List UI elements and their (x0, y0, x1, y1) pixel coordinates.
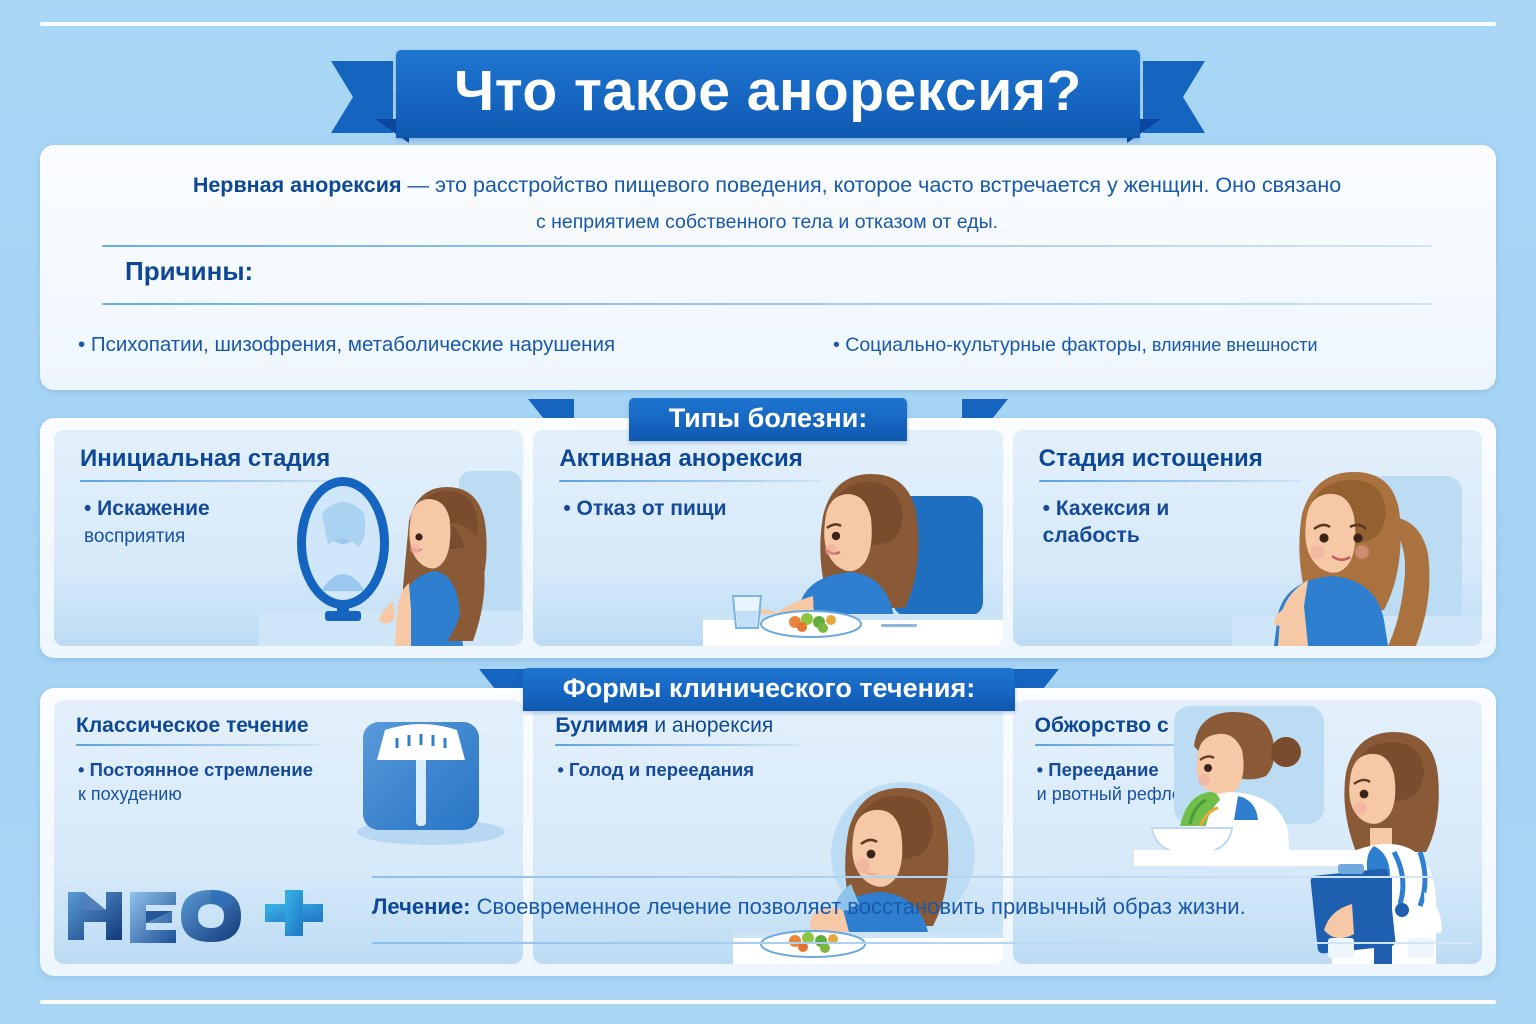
type-card-bullet-thin: восприятия (84, 526, 185, 547)
type-card-bullet-strong: • Кахексия и слабость (1043, 497, 1170, 547)
card-title-underline (555, 744, 799, 746)
type-card-bullet-strong: • Отказ от пищи (563, 497, 726, 520)
footer: Лечение: Своевременное лечение позволяет… (62, 880, 1474, 956)
card-title-underline (1039, 480, 1302, 482)
intro-lead: Нервная анорексия (193, 173, 402, 197)
cause-item-2-thin: влияние внешности (1147, 335, 1318, 355)
type-card-bullet: • Отказ от пищи (563, 496, 786, 523)
woman-mirror-icon (259, 461, 523, 646)
treatment-label: Лечение: (372, 894, 471, 919)
types-card-row: Инициальная стадия • Искажение восприяти… (54, 430, 1482, 646)
neo-plus-logo (62, 884, 352, 946)
card-title-underline (76, 744, 320, 746)
form-card-bullet-thin: к похудению (78, 784, 182, 804)
form-card-title: Булимия и анорексия (555, 714, 990, 737)
intro-body: — это расстройство пищевого поведения, к… (402, 173, 1342, 197)
type-card-title: Инициальная стадия (80, 446, 511, 472)
card-title-underline (559, 480, 822, 482)
form-card-title-thin: и анорексия (649, 714, 774, 737)
form-card-title: Классическое течение (76, 714, 511, 737)
card-title-underline (80, 480, 343, 482)
cause-item-2: • Социально-культурные факторы, влияние … (833, 334, 1318, 357)
types-banner-label: Типы болезни: (629, 398, 908, 441)
form-card-bullet: • Голод и переедания (557, 758, 815, 782)
type-card-active-anorexia[interactable]: Активная анорексия • Отказ от пищи (533, 430, 1002, 646)
form-card-title: Обжорство с рвотой (1035, 714, 1470, 737)
footer-divider-bottom (372, 942, 1472, 944)
woman-refusing-food-icon (703, 456, 1003, 646)
intro-paragraph: Нервная анорексия — это расстройство пищ… (102, 167, 1432, 239)
form-card-bullet-thin: и рвотный рефлекс (1037, 784, 1199, 804)
type-card-bullet: • Искажение восприятия (84, 496, 307, 550)
infographic-page: Что такое анорексия? Нервная анорексия —… (0, 0, 1536, 1024)
cause-item-1: • Психопатии, шизофрения, метаболические… (78, 333, 615, 357)
treatment-text: Лечение: Своевременное лечение позволяет… (372, 894, 1246, 920)
intro-line2: с неприятием собственного тела и отказом… (536, 211, 998, 233)
intro-divider-2 (102, 303, 1432, 305)
forms-banner-label: Формы клинического течения: (523, 668, 1016, 711)
form-card-title-strong: Классическое течение (76, 714, 309, 737)
title-ribbon: Что такое анорексия? (383, 45, 1153, 143)
form-card-bullet-strong: • Голод и переедания (557, 759, 754, 780)
form-card-bullet-strong: • Переедание (1037, 759, 1159, 780)
cause-item-2-strong: • Социально-культурные факторы, (833, 334, 1147, 356)
type-card-bullet: • Кахексия и слабость (1043, 496, 1266, 550)
type-card-initial-stage[interactable]: Инициальная стадия • Искажение восприяти… (54, 430, 523, 646)
form-card-bullet: • Переедание и рвотный рефлекс (1037, 758, 1295, 806)
card-title-underline (1035, 744, 1279, 746)
form-card-title-strong: Обжорство с рвотой (1035, 714, 1248, 737)
causes-heading: Причины: (125, 256, 253, 287)
form-card-title-strong: Булимия (555, 714, 648, 737)
forms-banner-ribbon: Формы клинического течения: (519, 662, 1019, 716)
bottom-divider-line (40, 1000, 1496, 1004)
top-divider-line (40, 22, 1496, 26)
form-card-bullet-strong: • Постоянное стремление (78, 759, 313, 780)
type-card-title: Стадия истощения (1039, 446, 1470, 472)
type-card-title: Активная анорексия (559, 446, 990, 472)
intro-divider-1 (102, 245, 1432, 247)
form-card-bullet: • Постоянное стремление к похудению (78, 758, 336, 806)
treatment-body: Своевременное лечение позволяет восстано… (471, 894, 1246, 919)
footer-divider-top (372, 876, 1472, 878)
page-title: Что такое анорексия? (396, 50, 1140, 137)
type-card-bullet-strong: • Искажение (84, 497, 210, 520)
exhausted-woman-icon (1232, 456, 1482, 646)
types-panel: Инициальная стадия • Искажение восприяти… (40, 418, 1496, 658)
type-card-exhaustion-stage[interactable]: Стадия истощения • Кахексия и слабость (1013, 430, 1482, 646)
